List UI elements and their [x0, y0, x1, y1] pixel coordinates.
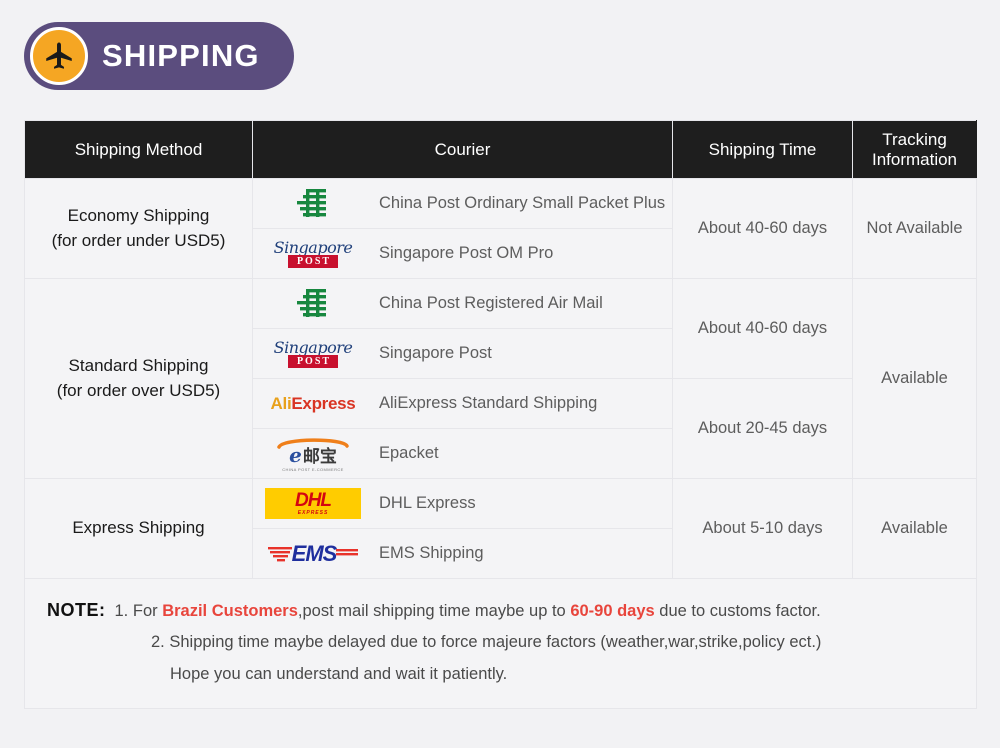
epacket-logo: e 邮宝 CHINA POST E-COMMERCE: [253, 431, 373, 477]
note-1-highlight-brazil: Brazil Customers: [162, 602, 298, 620]
shipping-time-value: About 20-45 days: [673, 379, 853, 479]
shipping-time-value: About 40-60 days: [673, 179, 853, 279]
note-row: NOTE:1. For Brazil Customers,post mail s…: [25, 579, 977, 709]
courier-name: Singapore Post: [373, 342, 492, 366]
airplane-icon: [30, 27, 88, 85]
dhl-logo: DHL EXPRESS: [253, 481, 373, 527]
column-header-shipping-method: Shipping Method: [25, 121, 253, 179]
aliexpress-logo-ali: Ali: [271, 394, 292, 413]
note-section: NOTE:1. For Brazil Customers,post mail s…: [25, 579, 977, 709]
shipping-time-value: About 5-10 days: [673, 479, 853, 579]
epacket-logo-sub: CHINA POST E-COMMERCE: [282, 467, 343, 472]
shipping-info-table: Shipping Method Courier Shipping Time Tr…: [24, 120, 977, 709]
column-header-courier: Courier: [253, 121, 673, 179]
method-express-shipping: Express Shipping: [25, 479, 253, 579]
courier-cell: China Post Ordinary Small Packet Plus: [253, 179, 673, 229]
courier-name: DHL Express: [373, 492, 476, 516]
tracking-status: Available: [853, 479, 977, 579]
singapore-post-script: Singapore: [274, 240, 353, 256]
method-economy-shipping: Economy Shipping (for order under USD5): [25, 179, 253, 279]
shipping-time-value: About 40-60 days: [673, 279, 853, 379]
courier-cell: AliExpress AliExpress Standard Shipping: [253, 379, 673, 429]
method-label: Express Shipping: [72, 518, 204, 537]
note-1-highlight-days: 60-90 days: [570, 602, 654, 620]
note-1-part2: ,post mail shipping time maybe up to: [298, 602, 570, 620]
note-line-3: Hope you can understand and wait it pati…: [47, 659, 966, 690]
courier-name: China Post Ordinary Small Packet Plus: [373, 192, 665, 216]
courier-name: Singapore Post OM Pro: [373, 242, 553, 266]
aliexpress-logo: AliExpress: [253, 381, 373, 427]
dhl-logo-text: DHL: [295, 491, 331, 510]
shipping-header-badge: SHIPPING: [24, 22, 294, 90]
china-post-logo: [253, 281, 373, 327]
note-2-line2: Hope you can understand and wait it pati…: [170, 665, 507, 683]
courier-name: China Post Registered Air Mail: [373, 292, 603, 316]
ems-logo: EMS: [253, 531, 373, 577]
method-label: Economy Shipping: [68, 206, 210, 225]
table-row: Economy Shipping (for order under USD5): [25, 179, 977, 229]
courier-name: EMS Shipping: [373, 542, 484, 566]
courier-name: Epacket: [373, 442, 439, 466]
column-header-shipping-time: Shipping Time: [673, 121, 853, 179]
table-row: Express Shipping DHL EXPRESS DHL Express…: [25, 479, 977, 529]
note-2-line1: Shipping time maybe delayed due to force…: [169, 633, 821, 651]
note-1-part3: due to customs factor.: [655, 602, 821, 620]
epacket-logo-e: e: [289, 445, 302, 465]
method-sublabel: (for order over USD5): [33, 379, 244, 404]
epacket-logo-cn: 邮宝: [303, 448, 337, 465]
courier-cell: China Post Registered Air Mail: [253, 279, 673, 329]
singapore-post-logo: Singapore POST: [253, 331, 373, 377]
dhl-logo-sub: EXPRESS: [298, 511, 329, 516]
method-label: Standard Shipping: [69, 356, 209, 375]
method-sublabel: (for order under USD5): [33, 229, 244, 254]
singapore-post-logo: Singapore POST: [253, 231, 373, 277]
method-standard-shipping: Standard Shipping (for order over USD5): [25, 279, 253, 479]
singapore-post-script: Singapore: [274, 340, 353, 356]
courier-cell: Singapore POST Singapore Post: [253, 329, 673, 379]
aliexpress-logo-express: Express: [291, 394, 355, 413]
table-row: Standard Shipping (for order over USD5): [25, 279, 977, 329]
courier-cell: EMS EMS Shipping: [253, 529, 673, 579]
china-post-logo: [253, 181, 373, 227]
note-label: NOTE:: [47, 600, 106, 620]
courier-cell: DHL EXPRESS DHL Express: [253, 479, 673, 529]
table-header-row: Shipping Method Courier Shipping Time Tr…: [25, 121, 977, 179]
courier-name: AliExpress Standard Shipping: [373, 392, 597, 416]
column-header-tracking-information: Tracking Information: [853, 121, 977, 179]
note-1-part1: For: [133, 602, 162, 620]
note-line-2: 2. Shipping time maybe delayed due to fo…: [47, 627, 966, 658]
tracking-status: Available: [853, 279, 977, 479]
note-1-number: 1.: [115, 602, 129, 620]
courier-cell: Singapore POST Singapore Post OM Pro: [253, 229, 673, 279]
note-line-1: NOTE:1. For Brazil Customers,post mail s…: [47, 593, 966, 627]
page-title: SHIPPING: [102, 38, 260, 74]
courier-cell: e 邮宝 CHINA POST E-COMMERCE Epacket: [253, 429, 673, 479]
singapore-post-badge: POST: [288, 355, 338, 368]
ems-logo-text: EMS: [292, 543, 337, 565]
singapore-post-badge: POST: [288, 255, 338, 268]
note-2-number: 2.: [151, 633, 165, 651]
tracking-status: Not Available: [853, 179, 977, 279]
